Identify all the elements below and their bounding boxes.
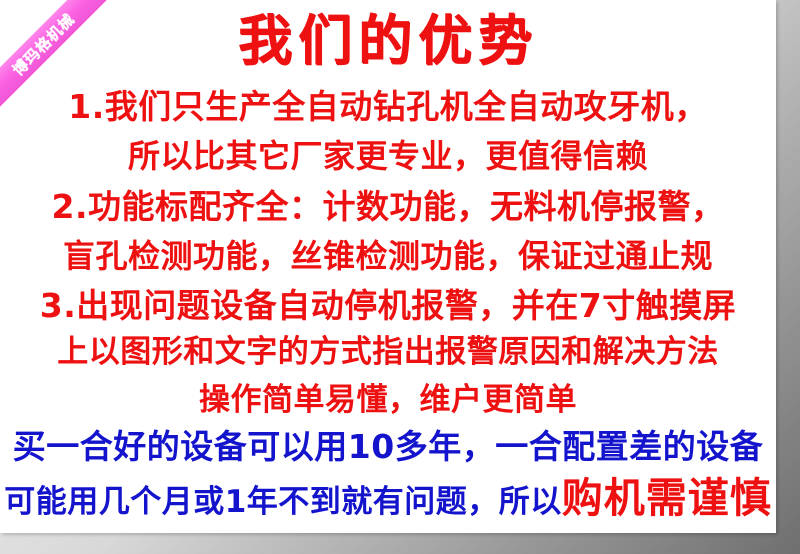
advantage-line-1: 1.我们只生产全自动钻孔机全自动攻牙机， xyxy=(0,90,776,123)
page-title: 我们的优势 xyxy=(0,14,776,68)
advantages-banner: 博玛格机械 我们的优势 1.我们只生产全自动钻孔机全自动攻牙机， 所以比其它厂家… xyxy=(0,0,800,554)
advantage-line-9: 可能用几个月或1年不到就有问题，所以购机需谨慎 xyxy=(0,478,776,519)
banner-content: 我们的优势 1.我们只生产全自动钻孔机全自动攻牙机， 所以比其它厂家更专业，更值… xyxy=(0,0,776,533)
advantage-line-4: 盲孔检测功能，丝锥检测功能，保证过通止规 xyxy=(0,240,776,272)
advantage-line-3: 2.功能标配齐全：计数功能，无料机停报警， xyxy=(0,190,776,223)
advantage-line-7: 操作简单易懂，维户更简单 xyxy=(0,385,776,416)
advantage-line-2: 所以比其它厂家更专业，更值得信赖 xyxy=(0,140,776,172)
advantage-line-5: 3.出现问题设备自动停机报警，并在7寸触摸屏 xyxy=(0,289,776,322)
advantage-line-9-emphasis: 购机需谨慎 xyxy=(562,474,772,522)
advantage-line-8: 买一合好的设备可以用10多年，一合配置差的设备 xyxy=(0,430,776,463)
advantage-line-9-blue-text: 可能用几个月或1年不到就有问题，所以 xyxy=(4,484,562,520)
banner-sheet: 博玛格机械 我们的优势 1.我们只生产全自动钻孔机全自动攻牙机， 所以比其它厂家… xyxy=(0,0,776,533)
advantage-line-6: 上以图形和文字的方式指出报警原因和解决方法 xyxy=(0,337,776,368)
